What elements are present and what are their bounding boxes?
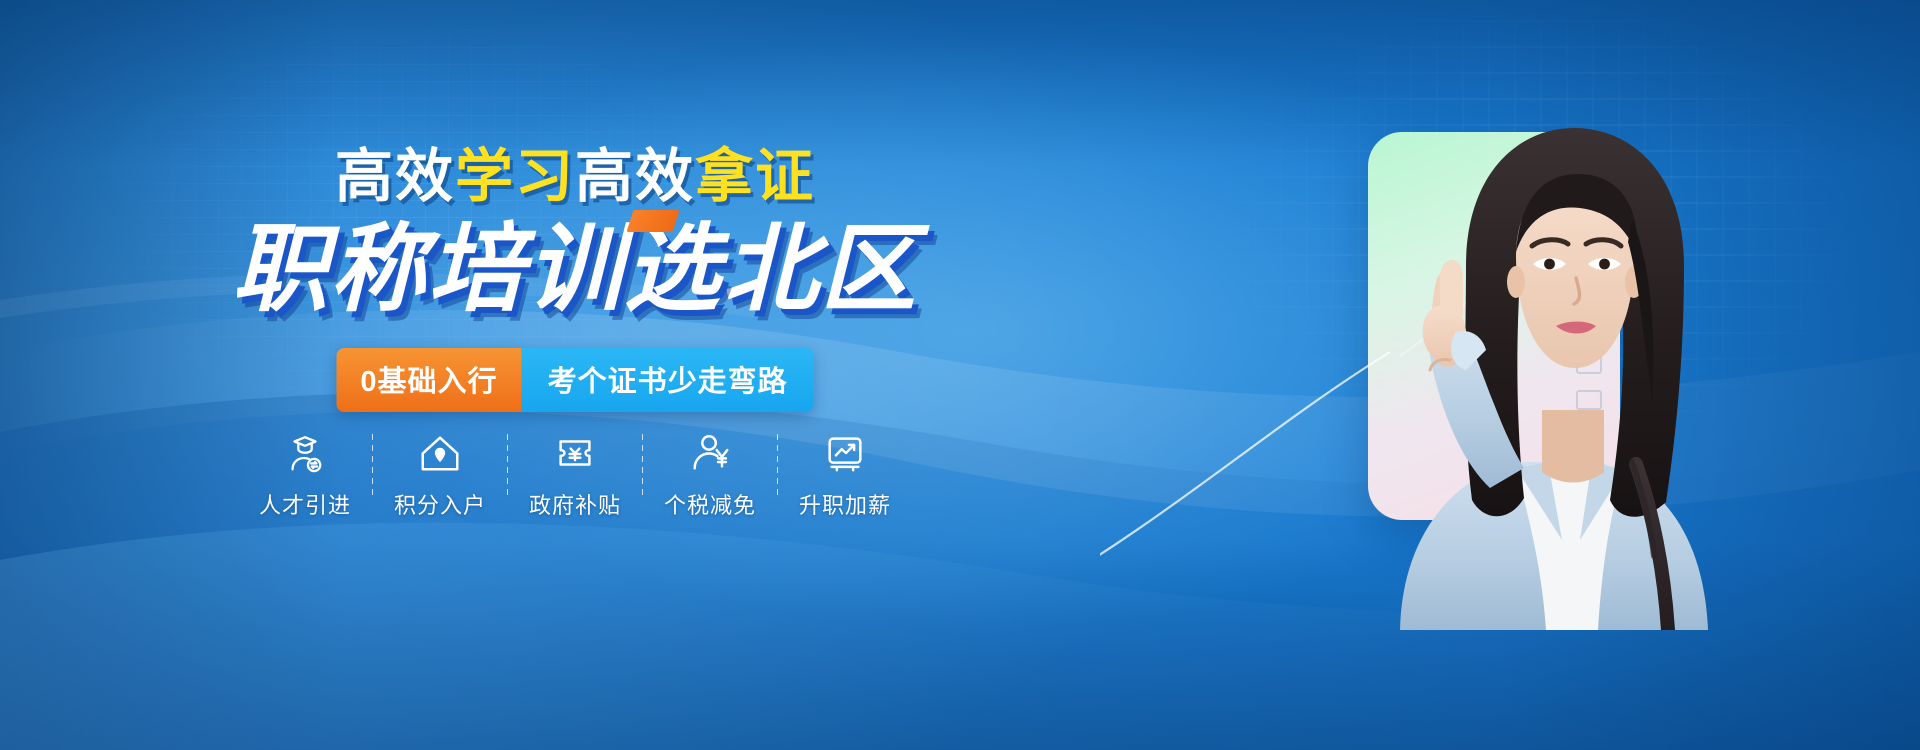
subtitle-pill: 0基础入行 考个证书少走弯路 — [336, 348, 813, 412]
headline-top-seg-4: 拿证 — [695, 144, 815, 209]
headline-main-prefix: 职称培训 — [232, 216, 624, 323]
banner-content: 高效学习高效拿证 职称培训选北区 0基础入行 考个证书少走弯路 人才引进 — [0, 0, 1150, 750]
feature-item[interactable]: 个税减免 — [643, 430, 777, 520]
feature-item[interactable]: 积分入户 — [373, 430, 507, 520]
home-pin-icon — [417, 430, 463, 476]
pill-left-label: 0基础入行 — [336, 348, 521, 412]
headline-top-seg-1: 高效 — [335, 144, 455, 209]
ticket-yuan-icon — [552, 430, 598, 476]
hero-photo-zone — [1100, 0, 1920, 750]
feature-label: 积分入户 — [394, 488, 486, 520]
growth-chart-icon — [822, 430, 868, 476]
feature-label: 个税减免 — [664, 488, 756, 520]
promo-banner: 高效学习高效拿证 职称培训选北区 0基础入行 考个证书少走弯路 人才引进 — [0, 0, 1920, 750]
feature-item[interactable]: 升职加薪 — [778, 430, 912, 520]
headline-main-suffix: 北区 — [722, 216, 918, 323]
headline-main: 职称培训选北区 — [0, 222, 1150, 318]
feature-list: 人才引进 积分入户 政府补贴 — [238, 430, 912, 520]
feature-label: 政府补贴 — [529, 488, 621, 520]
headline-top-seg-2: 学习 — [455, 144, 575, 209]
feature-item[interactable]: 政府补贴 — [508, 430, 642, 520]
presenter-photo — [1280, 70, 1800, 630]
feature-item[interactable]: 人才引进 — [238, 430, 372, 520]
graduate-person-icon — [282, 430, 328, 476]
person-yuan-icon — [687, 430, 733, 476]
headline-top-seg-3: 高效 — [575, 144, 695, 209]
headline-top: 高效学习高效拿证 — [0, 148, 1150, 206]
feature-label: 升职加薪 — [799, 488, 891, 520]
headline-main-accent-char: 选 — [624, 222, 722, 318]
feature-label: 人才引进 — [259, 488, 351, 520]
pill-right-label: 考个证书少走弯路 — [522, 348, 814, 412]
